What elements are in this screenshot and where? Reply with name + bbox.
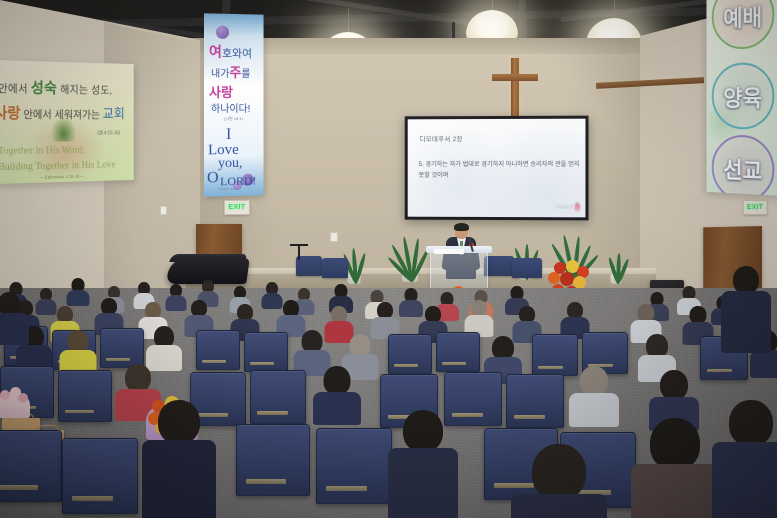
exit-sign-left: EXIT <box>224 200 250 215</box>
congregant <box>636 418 714 518</box>
congregant <box>392 410 454 518</box>
congregant <box>146 400 212 518</box>
stage-chair <box>296 256 322 276</box>
banner-vertical-line1: 여호와여 <box>209 42 252 63</box>
banner-vertical-reference-bottom: Psalm 18:1 <box>218 186 238 191</box>
congregant <box>166 284 186 310</box>
banner-left-line1: 안에서 성숙 해지는 성도, <box>0 76 112 98</box>
stage-chair <box>484 256 514 276</box>
banner-left-reference: (엡 4:15-16) <box>97 130 120 137</box>
banner-left-english3: — Ephesians 4:15-16 — <box>40 174 85 180</box>
banner-left-line2-tail: 안에서 세워져가는 <box>23 109 99 121</box>
banner-left-line1-tail: 해지는 성도, <box>60 84 112 96</box>
chair[interactable] <box>388 334 432 374</box>
congregant <box>0 292 26 342</box>
congregant <box>562 302 588 336</box>
exit-sign-right: EXIT <box>743 200 768 215</box>
preacher-hair <box>454 223 469 231</box>
chair[interactable] <box>506 374 564 428</box>
church-sanctuary-photo: 디모데후서 2장 5. 경기하는 자가 법대로 경기하지 아니하면 승리자의 관… <box>0 0 777 518</box>
exit-sign-left-label: EXIT <box>228 204 245 211</box>
banner-vertical-line4: 하나이다! <box>211 100 250 115</box>
slide-title: 디모데후서 2장 <box>420 133 463 143</box>
wall-plate <box>160 206 167 215</box>
banner-vertical-english-o: O <box>207 169 219 187</box>
congregant <box>516 444 602 518</box>
congregant <box>372 302 398 336</box>
congregant <box>148 326 180 368</box>
chair[interactable] <box>236 424 310 496</box>
banner-vertical-line3: 사랑 <box>209 82 233 101</box>
slide-logo-icon <box>574 202 580 212</box>
chair[interactable] <box>244 332 288 372</box>
banner-left-line2: 사랑 안에서 세워져가는 교회 <box>0 102 125 123</box>
wooden-cross-icon <box>492 58 538 120</box>
chair[interactable] <box>58 370 112 422</box>
chair[interactable] <box>100 328 144 368</box>
projection-screen: 디모데후서 2장 5. 경기하는 자가 법대로 경기하지 아니하면 승리자의 관… <box>405 116 589 221</box>
congregant <box>278 300 304 334</box>
banner-left-line2-accent: 사랑 <box>0 105 21 122</box>
wrapped-gift <box>0 386 30 418</box>
chair[interactable] <box>436 332 480 372</box>
banner-left: 안에서 성숙 해지는 성도, 사랑 안에서 세워져가는 교회 (엡 4:15-1… <box>0 60 134 184</box>
banner-vertical-line2-tail: 를 <box>241 69 250 80</box>
congregant <box>68 278 88 304</box>
music-stand <box>290 244 308 246</box>
chair[interactable] <box>0 430 62 502</box>
banner-vertical-line2: 내가주를 <box>211 62 250 81</box>
banner-vertical-reference-top: (시편 18:1) <box>224 116 243 122</box>
banner-dot-icon <box>216 26 229 39</box>
congregant <box>96 298 122 332</box>
congregant-standing <box>724 266 768 350</box>
congregant <box>316 366 358 422</box>
banner-vertical-english-you: you, <box>218 156 242 172</box>
banner-vertical-line2-head: 내가 <box>211 69 229 80</box>
congregant <box>466 300 492 334</box>
chair[interactable] <box>62 438 138 514</box>
banner-left-line1-plain: 안에서 <box>0 83 28 95</box>
pulpit-notes <box>434 249 464 254</box>
banner-vertical-line1-tail: 호와여 <box>222 48 252 60</box>
banner-left-line2-end: 교회 <box>103 106 125 121</box>
banner-right-circle-worship: 예배 <box>712 0 775 50</box>
banner-right: 예배 양육 선교 <box>706 0 777 196</box>
slide-body-text: 5. 경기하는 자가 법대로 경기하지 아니하면 승리자의 관을 얻지 못할 것… <box>419 159 581 181</box>
banner-right-circle-nurture: 양육 <box>712 62 775 130</box>
banner-left-line1-accent: 성숙 <box>31 80 57 97</box>
potted-plant <box>392 226 428 282</box>
congregant <box>716 400 777 518</box>
thermostat <box>330 232 338 242</box>
congregant <box>400 288 422 316</box>
congregant <box>186 300 212 334</box>
banner-right-circle-mission: 선교 <box>712 134 775 196</box>
banner-left-english1: Together in His Word; <box>0 145 85 157</box>
exit-sign-right-label: EXIT <box>747 204 763 211</box>
banner-vertical-line1-accent: 여 <box>209 44 222 60</box>
chair[interactable] <box>316 428 392 504</box>
projection-screen-surface: 디모데후서 2장 5. 경기하는 자가 법대로 경기하지 아니하면 승리자의 관… <box>408 119 586 218</box>
stage-chair <box>512 258 542 278</box>
congregant <box>572 366 616 424</box>
chair[interactable] <box>250 370 306 424</box>
banner-vertical-line2-accent: 주 <box>229 65 241 80</box>
banner-vertical: 여호와여 내가주를 사랑 하나이다! (시편 18:1) I Love you,… <box>204 13 264 196</box>
stage-chair <box>322 258 348 278</box>
chair[interactable] <box>196 330 240 370</box>
congregant <box>62 330 94 372</box>
slide-watermark: 갓피플성경 <box>555 204 574 210</box>
potted-plant <box>604 246 628 284</box>
